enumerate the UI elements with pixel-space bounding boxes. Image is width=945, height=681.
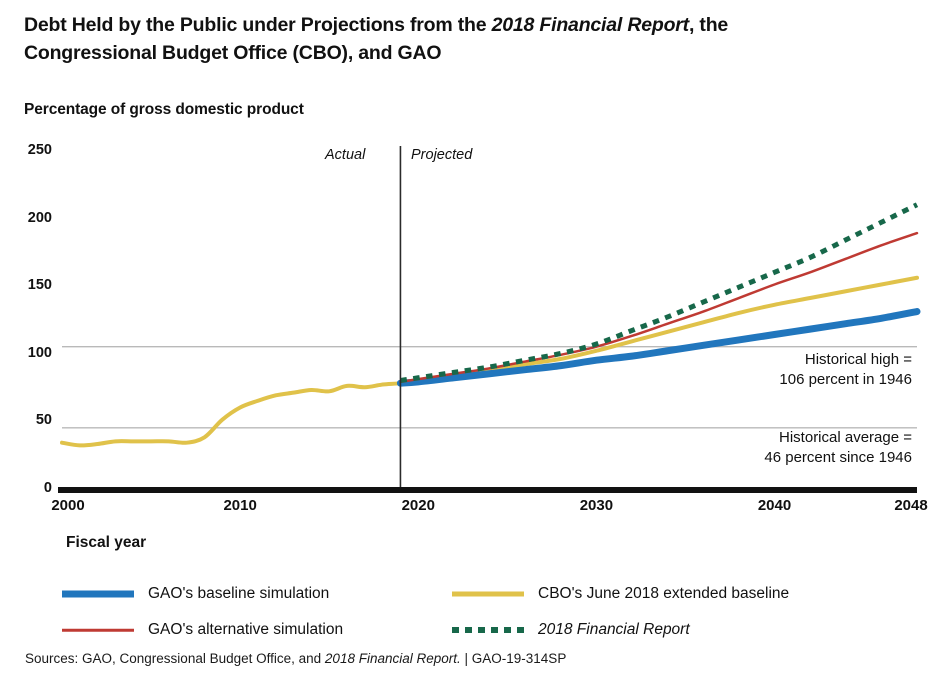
source-italic: 2018 Financial Report. — [325, 651, 461, 666]
x-axis-tick-2048: 2048 — [894, 497, 927, 514]
legend-item-financial-report[interactable]: 2018 Financial Report — [452, 612, 690, 648]
legend-swatch-gao-alternative — [62, 623, 134, 637]
legend-label-financial-report: 2018 Financial Report — [538, 621, 690, 639]
x-axis-tick-2040: 2040 — [758, 497, 791, 514]
annotation-historical-average: Historical average = 46 percent since 19… — [764, 428, 912, 468]
legend-label-gao-alternative: GAO's alternative simulation — [148, 621, 343, 639]
x-axis-tick-2000: 2000 — [51, 497, 84, 514]
y-axis-tick-150: 150 — [4, 277, 52, 293]
period-label-actual: Actual — [325, 147, 365, 163]
annotation-historical-high: Historical high = 106 percent in 1946 — [779, 350, 912, 390]
y-axis-tick-250: 250 — [4, 142, 52, 158]
y-axis-tick-200: 200 — [4, 210, 52, 226]
chart-legend: GAO's baseline simulation CBO's June 201… — [62, 576, 922, 648]
y-axis-tick-50: 50 — [4, 412, 52, 428]
legend-item-cbo-baseline[interactable]: CBO's June 2018 extended baseline — [452, 576, 789, 612]
legend-item-gao-baseline[interactable]: GAO's baseline simulation — [62, 576, 329, 612]
source-prefix: Sources: GAO, Congressional Budget Offic… — [25, 651, 325, 666]
legend-item-gao-alternative[interactable]: GAO's alternative simulation — [62, 612, 343, 648]
legend-swatch-cbo-baseline — [452, 587, 524, 601]
y-axis-tick-0: 0 — [4, 480, 52, 496]
period-label-projected: Projected — [411, 147, 472, 163]
x-axis-tick-2010: 2010 — [223, 497, 256, 514]
legend-swatch-gao-baseline — [62, 587, 134, 601]
x-axis-title: Fiscal year — [66, 534, 146, 552]
legend-label-gao-baseline: GAO's baseline simulation — [148, 585, 329, 603]
legend-row-1: GAO's baseline simulation CBO's June 201… — [62, 576, 922, 612]
y-axis-tick-100: 100 — [4, 345, 52, 361]
legend-row-2: GAO's alternative simulation 2018 Financ… — [62, 612, 922, 648]
legend-label-cbo-baseline: CBO's June 2018 extended baseline — [538, 585, 789, 603]
source-suffix: | GAO-19-314SP — [461, 651, 567, 666]
x-axis-tick-2030: 2030 — [580, 497, 613, 514]
source-note: Sources: GAO, Congressional Budget Offic… — [25, 651, 566, 666]
legend-swatch-financial-report — [452, 623, 524, 637]
x-axis-tick-2020: 2020 — [402, 497, 435, 514]
